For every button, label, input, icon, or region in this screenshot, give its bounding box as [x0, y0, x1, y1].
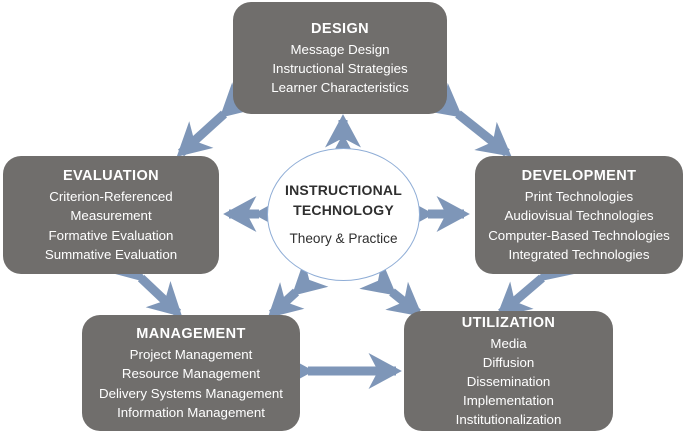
node-management-item: Information Management: [117, 403, 265, 422]
node-design-item: Instructional Strategies: [272, 59, 407, 78]
node-utilization[interactable]: UTILIZATION Media Diffusion Disseminatio…: [404, 311, 613, 431]
connector-design-to-evaluation: [181, 114, 224, 153]
connector-design-to-development: [458, 114, 507, 153]
node-evaluation-item: Summative Evaluation: [45, 245, 177, 264]
diagram-canvas: DESIGN Message Design Instructional Stra…: [0, 0, 685, 431]
node-utilization-item: Dissemination: [467, 372, 551, 391]
node-evaluation-title: EVALUATION: [63, 166, 159, 187]
node-management[interactable]: MANAGEMENT Project Management Resource M…: [82, 315, 300, 431]
node-design-title: DESIGN: [311, 19, 369, 40]
node-management-title: MANAGEMENT: [136, 324, 246, 345]
core-title-line1: INSTRUCTIONAL: [285, 181, 402, 201]
node-utilization-item: Institutionalization: [456, 410, 562, 429]
node-development-title: DEVELOPMENT: [522, 166, 637, 187]
connector-development-to-utilization: [501, 278, 542, 313]
node-evaluation[interactable]: EVALUATION Criterion-Referenced Measurem…: [3, 156, 219, 274]
connector-evaluation-to-management: [141, 278, 178, 313]
node-design-item: Learner Characteristics: [271, 78, 408, 97]
node-management-item: Resource Management: [122, 364, 260, 383]
node-design[interactable]: DESIGN Message Design Instructional Stra…: [233, 2, 447, 114]
node-design-item: Message Design: [290, 40, 389, 59]
node-utilization-item: Media: [490, 334, 526, 353]
node-development-item: Computer-Based Technologies: [488, 226, 670, 245]
node-utilization-title: UTILIZATION: [462, 313, 556, 334]
connector-core-to-management: [272, 292, 296, 314]
node-development-item: Integrated Technologies: [509, 245, 650, 264]
core-node-instructional-technology[interactable]: INSTRUCTIONAL TECHNOLOGY Theory & Practi…: [267, 148, 420, 281]
node-development-item: Audiovisual Technologies: [504, 206, 653, 225]
node-evaluation-item: Criterion-Referenced: [49, 187, 172, 206]
node-evaluation-item: Measurement: [70, 206, 151, 225]
core-subtitle: Theory & Practice: [289, 229, 397, 248]
node-management-item: Project Management: [130, 345, 253, 364]
node-utilization-item: Implementation: [463, 391, 554, 410]
node-evaluation-item: Formative Evaluation: [49, 226, 174, 245]
connector-core-to-utilization: [392, 292, 418, 313]
node-management-item: Delivery Systems Management: [99, 384, 283, 403]
node-development-item: Print Technologies: [525, 187, 633, 206]
node-development[interactable]: DEVELOPMENT Print Technologies Audiovisu…: [475, 156, 683, 274]
core-title-line2: TECHNOLOGY: [293, 201, 394, 221]
node-utilization-item: Diffusion: [483, 353, 535, 372]
